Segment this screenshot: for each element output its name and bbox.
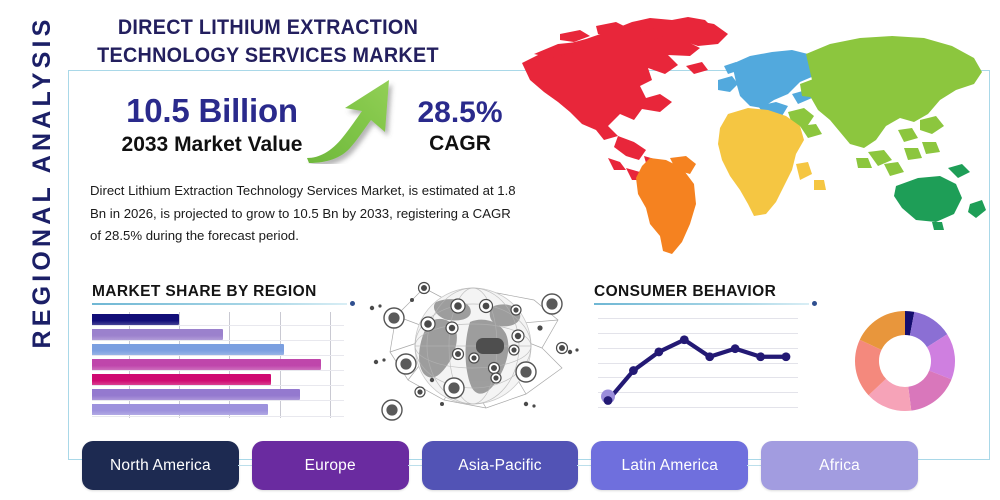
section-title-market-share: MARKET SHARE BY REGION xyxy=(92,283,317,301)
bar-chart-bar xyxy=(92,314,179,325)
world-map-icon xyxy=(500,8,995,270)
line-chart-marker xyxy=(604,396,613,405)
region-button-row: North AmericaEuropeAsia-PacificLatin Ame… xyxy=(82,441,918,491)
summary-paragraph: Direct Lithium Extraction Technology Ser… xyxy=(90,180,522,248)
market-value-figure: 10.5 Billion xyxy=(92,92,332,130)
region-button-asia-pacific[interactable]: Asia-Pacific xyxy=(422,441,579,490)
bar-chart-separator xyxy=(92,340,344,341)
line-chart-marker xyxy=(756,352,765,361)
section-rule-consumer-behavior xyxy=(594,303,809,305)
line-chart-marker xyxy=(782,352,791,361)
region-button-latin-america[interactable]: Latin America xyxy=(591,441,748,490)
bar-chart-separator xyxy=(92,416,344,417)
bar-chart-bar xyxy=(92,329,223,340)
line-chart-marker xyxy=(680,335,689,344)
line-chart-marker xyxy=(731,344,740,353)
bar-chart-separator xyxy=(92,325,344,326)
bar-chart-separator xyxy=(92,370,344,371)
region-connector xyxy=(238,465,253,466)
infographic-root: REGIONAL ANALYSIS DIRECT LITHIUM EXTRACT… xyxy=(0,0,1000,500)
region-connector xyxy=(408,465,423,466)
bar-chart-bar xyxy=(92,389,300,400)
side-label-regional-analysis: REGIONAL ANALYSIS xyxy=(20,12,64,352)
bar-chart-gridline xyxy=(330,312,331,418)
page-title: DIRECT LITHIUM EXTRACTION TECHNOLOGY SER… xyxy=(75,14,461,69)
line-chart-marker xyxy=(654,348,663,357)
region-button-europe[interactable]: Europe xyxy=(252,441,409,490)
market-value-caption: 2033 Market Value xyxy=(92,133,332,157)
bar-chart-bar xyxy=(92,404,268,415)
section-rule-dot-right xyxy=(812,301,817,306)
line-chart-marker xyxy=(629,366,638,375)
global-network-globe-icon xyxy=(366,276,580,422)
section-rule-dot-left xyxy=(350,301,355,306)
region-connector xyxy=(577,465,592,466)
region-button-africa[interactable]: Africa xyxy=(761,441,918,490)
market-share-bar-chart xyxy=(92,312,344,418)
bar-chart-separator xyxy=(92,400,344,401)
consumer-behavior-line-chart xyxy=(598,312,798,415)
line-chart-marker xyxy=(705,352,714,361)
bar-chart-bar xyxy=(92,374,271,385)
bar-chart-bar xyxy=(92,344,284,355)
region-button-north-america[interactable]: North America xyxy=(82,441,239,490)
bar-chart-bar xyxy=(92,359,321,370)
section-title-consumer-behavior: CONSUMER BEHAVIOR xyxy=(594,283,776,301)
bar-chart-separator xyxy=(92,385,344,386)
bar-chart-separator xyxy=(92,355,344,356)
region-connector xyxy=(747,465,762,466)
consumer-behavior-donut-chart: Segment 1: 3Segment 2: 13Segment 3: 15Se… xyxy=(852,308,958,414)
section-rule-market-share xyxy=(92,303,347,305)
